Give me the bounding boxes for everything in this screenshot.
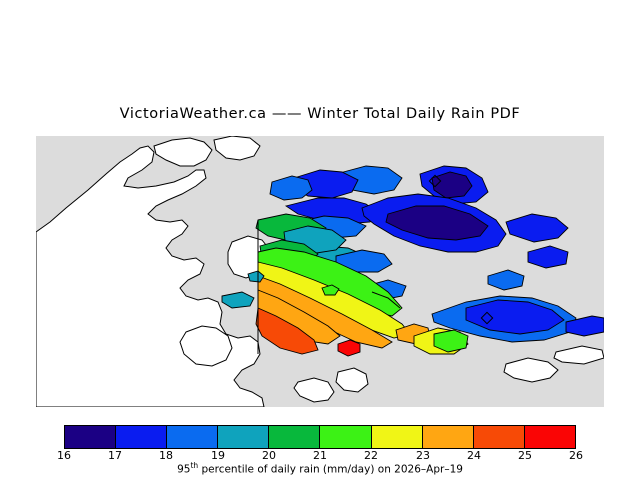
- map-svg: [36, 136, 604, 407]
- colorbar-segment-20-21[interactable]: [269, 426, 320, 448]
- page-title: VictoriaWeather.ca —— Winter Total Daily…: [0, 106, 640, 122]
- colorbar-segment-19-20[interactable]: [218, 426, 269, 448]
- colorbar-caption-post: percentile of daily rain (mm/day) on 202…: [198, 464, 463, 476]
- colorbar-segment-16-17[interactable]: [65, 426, 116, 448]
- colorbar-caption: 95th percentile of daily rain (mm/day) o…: [0, 461, 640, 476]
- colorbar-caption-pre: 95: [177, 464, 190, 476]
- colorbar-segment-25-26[interactable]: [525, 426, 575, 448]
- screenshot-root: VictoriaWeather.ca —— Winter Total Daily…: [0, 0, 640, 480]
- map-canvas: [36, 136, 604, 407]
- colorbar-segment-22-23[interactable]: [372, 426, 423, 448]
- colorbar-caption-ordinal: th: [190, 461, 198, 470]
- colorbar-segment-23-24[interactable]: [423, 426, 474, 448]
- colorbar-segment-21-22[interactable]: [320, 426, 371, 448]
- colorbar-segment-17-18[interactable]: [116, 426, 167, 448]
- colorbar-segment-18-19[interactable]: [167, 426, 218, 448]
- colorbar-segment-24-25[interactable]: [474, 426, 525, 448]
- colorbar[interactable]: [64, 425, 576, 449]
